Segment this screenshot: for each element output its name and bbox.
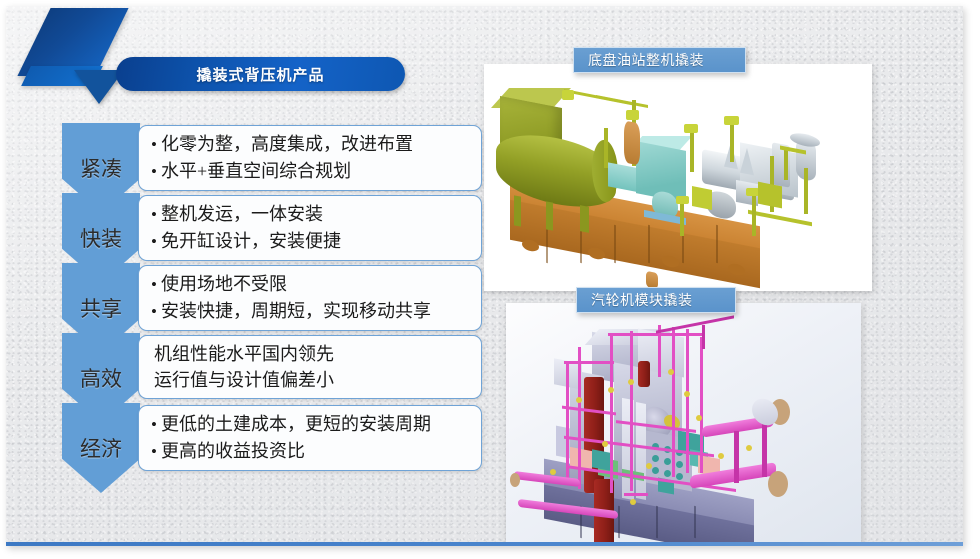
- feature-text-box: 机组性能水平国内领先 运行值与设计值偏差小: [138, 335, 482, 399]
- feature-tag: 共享: [62, 293, 140, 323]
- feature-text-box: 整机发运，一体安装 免开缸设计，安装便捷: [138, 195, 482, 261]
- page-title: 撬装式背压机产品: [116, 57, 405, 91]
- feature-text-box: 更低的土建成本，更短的安装周期 更高的收益投资比: [138, 405, 482, 471]
- feature-row: 高效 机组性能水平国内领先 运行值与设计值偏差小: [62, 333, 482, 403]
- photo-caption-bottom-label: 汽轮机模块撬装: [591, 290, 693, 310]
- product-photo-skid-generator: [484, 64, 872, 291]
- feature-tag: 紧凑: [62, 153, 140, 183]
- feature-row: 紧凑 化零为整，高度集成，改进布置 水平+垂直空间综合规划: [62, 123, 482, 193]
- feature-line: 水平+垂直空间综合规划: [151, 158, 471, 185]
- feature-line: 使用场地不受限: [151, 271, 471, 298]
- feature-text-box: 化零为整，高度集成，改进布置 水平+垂直空间综合规划: [138, 125, 482, 191]
- photo-caption-top-label: 底盘油站整机撬装: [588, 50, 704, 70]
- feature-row: 快装 整机发运，一体安装 免开缸设计，安装便捷: [62, 193, 482, 263]
- feature-row: 经济 更低的土建成本，更短的安装周期 更高的收益投资比: [62, 403, 482, 473]
- feature-text-box: 使用场地不受限 安装快捷，周期短，实现移动共享: [138, 265, 482, 331]
- slide-canvas: 撬装式背压机产品 紧凑 化零为整，高度集成，改进布置 水平+垂直空间综合规划 快…: [6, 6, 963, 546]
- product-photo-turbine-module: [506, 303, 861, 546]
- feature-tag: 高效: [62, 363, 140, 393]
- bottom-accent-rule: [6, 542, 963, 546]
- page-title-label: 撬装式背压机产品: [196, 64, 324, 85]
- feature-row: 共享 使用场地不受限 安装快捷，周期短，实现移动共享: [62, 263, 482, 333]
- feature-tag: 经济: [62, 433, 140, 463]
- feature-tag: 快装: [62, 223, 140, 253]
- feature-line: 运行值与设计值偏差小: [151, 367, 471, 393]
- feature-line: 化零为整，高度集成，改进布置: [151, 131, 471, 158]
- feature-line: 更高的收益投资比: [151, 438, 471, 465]
- photo-caption-bottom: 汽轮机模块撬装: [576, 287, 736, 313]
- photo-caption-top: 底盘油站整机撬装: [573, 47, 746, 73]
- feature-line: 整机发运，一体安装: [151, 201, 471, 228]
- feature-line: 机组性能水平国内领先: [151, 341, 471, 367]
- feature-line: 更低的土建成本，更短的安装周期: [151, 411, 471, 438]
- feature-list: 紧凑 化零为整，高度集成，改进布置 水平+垂直空间综合规划 快装 整机发运，一体…: [62, 123, 482, 473]
- feature-line: 免开缸设计，安装便捷: [151, 228, 471, 255]
- feature-line: 安装快捷，周期短，实现移动共享: [151, 298, 471, 325]
- cad-render-turbine-module: [506, 303, 861, 546]
- cad-render-turbine-generator: [484, 64, 872, 291]
